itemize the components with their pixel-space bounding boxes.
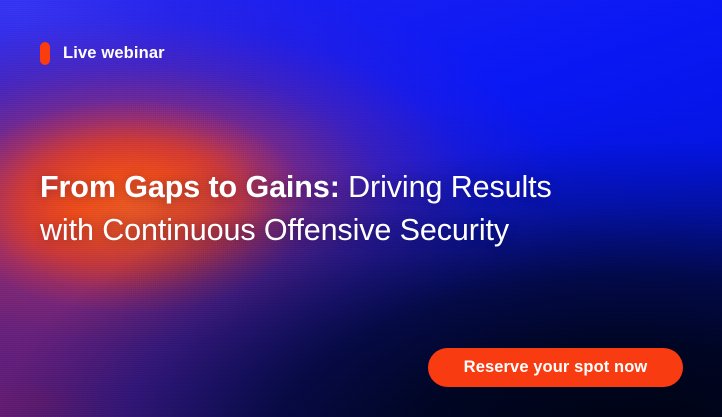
headline-line-2: with Continuous Offensive Security: [40, 209, 660, 252]
headline-line-1-tail: Driving Results: [340, 170, 552, 204]
live-indicator-pill-icon: [40, 42, 50, 65]
live-webinar-label: Live webinar: [63, 44, 165, 63]
reserve-spot-button[interactable]: Reserve your spot now: [428, 348, 683, 387]
live-webinar-badge: Live webinar: [40, 40, 165, 66]
webinar-promo-banner: Live webinar From Gaps to Gains: Driving…: [0, 0, 722, 417]
headline-emphasis: From Gaps to Gains:: [40, 170, 340, 204]
banner-content: Live webinar From Gaps to Gains: Driving…: [0, 0, 722, 417]
page-title: From Gaps to Gains: Driving Results with…: [40, 166, 660, 252]
headline-line-1: From Gaps to Gains: Driving Results: [40, 166, 660, 209]
